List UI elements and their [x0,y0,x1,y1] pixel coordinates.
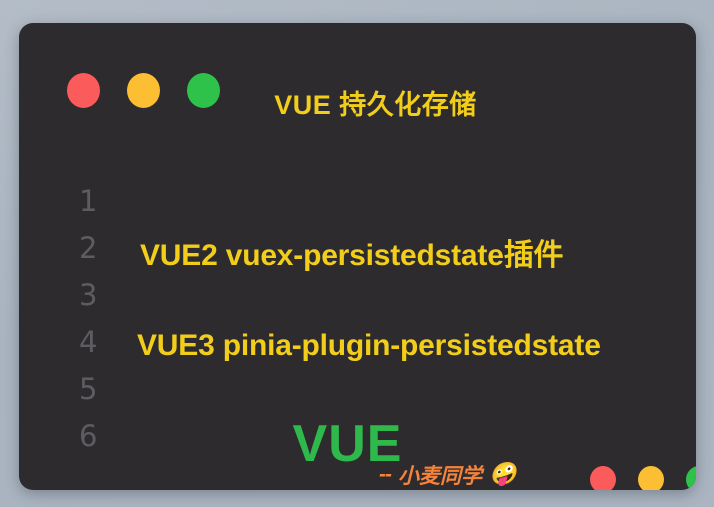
page-background: VUE 持久化存储 1 2 3 4 5 6 VUE2 vuex-persiste… [0,0,714,507]
line-number: 2 [79,228,113,275]
signature-author: 小麦同学 [398,460,482,490]
line-number: 1 [79,181,113,228]
footer-dot-red-icon [590,466,616,490]
line-number-gutter: 1 2 3 4 5 6 [79,181,113,463]
page-title: VUE 持久化存储 [19,83,696,122]
code-card: VUE 持久化存储 1 2 3 4 5 6 VUE2 vuex-persiste… [19,23,696,490]
line-number: 4 [79,322,113,369]
footer-dot-green-icon [686,466,696,490]
author-signature: -- 小麦同学 🤪 [379,460,516,490]
line-number: 5 [79,369,113,416]
line-number: 3 [79,275,113,322]
line-number: 6 [79,416,113,463]
code-body: VUE2 vuex-persistedstate插件 VUE3 pinia-pl… [129,181,676,472]
code-line [129,369,676,416]
code-line [129,181,676,228]
footer-dots [590,466,696,490]
zany-face-emoji-icon: 🤪 [489,463,516,485]
footer-dot-yellow-icon [638,466,664,490]
code-line-text: VUE2 vuex-persistedstate插件 [140,230,563,274]
signature-dashes: -- [379,463,391,487]
code-line: VUE3 pinia-plugin-persistedstate [129,322,676,369]
code-line: VUE2 vuex-persistedstate插件 [129,228,676,275]
code-line-text: VUE3 pinia-plugin-persistedstate [137,329,601,363]
code-line [129,275,676,322]
